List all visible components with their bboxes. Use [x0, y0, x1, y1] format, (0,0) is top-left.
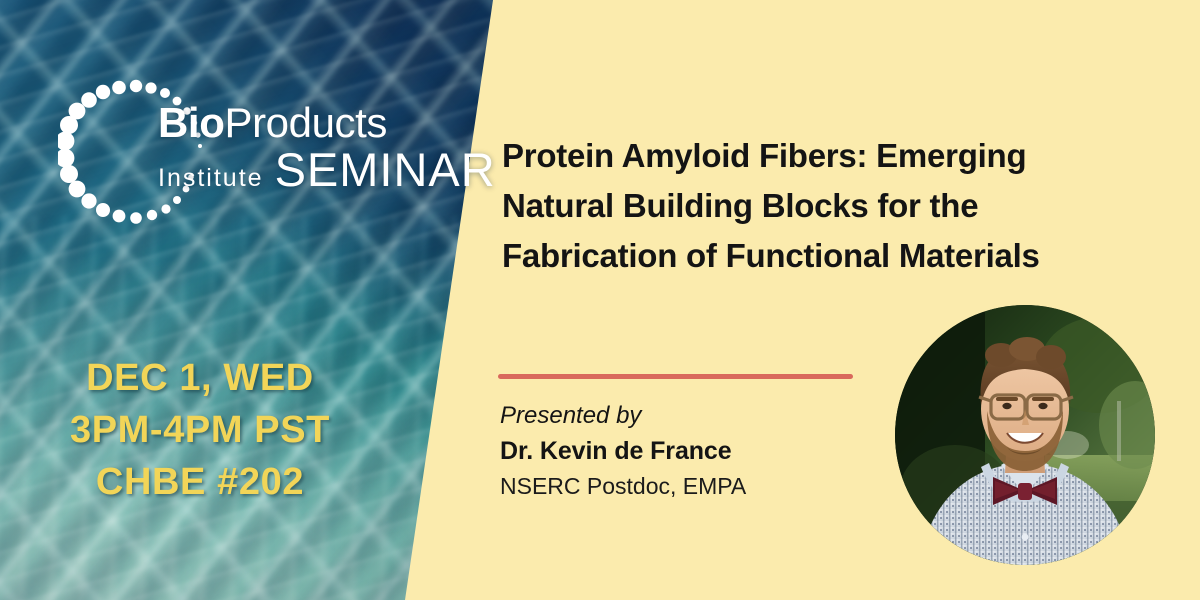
seminar-announcement-poster: BioProducts Institute SEMINAR DEC 1, WED… [0, 0, 1200, 600]
presenter-block: Presented by Dr. Kevin de France NSERC P… [500, 399, 890, 503]
logo-word-seminar: SEMINAR [275, 148, 496, 192]
section-divider [498, 374, 853, 379]
logo-word-products: Products [224, 99, 387, 146]
presenter-name: Dr. Kevin de France [500, 433, 890, 469]
logo-word-institute: Institute [158, 164, 264, 193]
talk-title-line-3: Fabrication of Functional Materials [502, 231, 1162, 281]
talk-title-line-2: Natural Building Blocks for the [502, 181, 1162, 231]
presenter-headshot [895, 305, 1155, 565]
logo-secondary-line: Institute SEMINAR [158, 148, 488, 193]
presenter-affiliation: NSERC Postdoc, EMPA [500, 469, 890, 503]
talk-title-line-1: Protein Amyloid Fibers: Emerging [502, 131, 1162, 181]
talk-title: Protein Amyloid Fibers: Emerging Natural… [502, 131, 1162, 281]
logo-word-bio: Bio [158, 99, 224, 146]
logo-wordmark: BioProducts Institute SEMINAR [158, 100, 488, 193]
event-time: 3PM-4PM PST [0, 404, 400, 456]
presenter-headshot-icon [895, 305, 1155, 565]
logo-primary-line: BioProducts [158, 100, 488, 146]
bioproducts-institute-logo: BioProducts Institute SEMINAR [58, 78, 488, 228]
presented-by-label: Presented by [500, 399, 890, 433]
event-details-block: DEC 1, WED 3PM-4PM PST CHBE #202 [0, 352, 400, 508]
event-location: CHBE #202 [0, 456, 400, 508]
event-date: DEC 1, WED [0, 352, 400, 404]
